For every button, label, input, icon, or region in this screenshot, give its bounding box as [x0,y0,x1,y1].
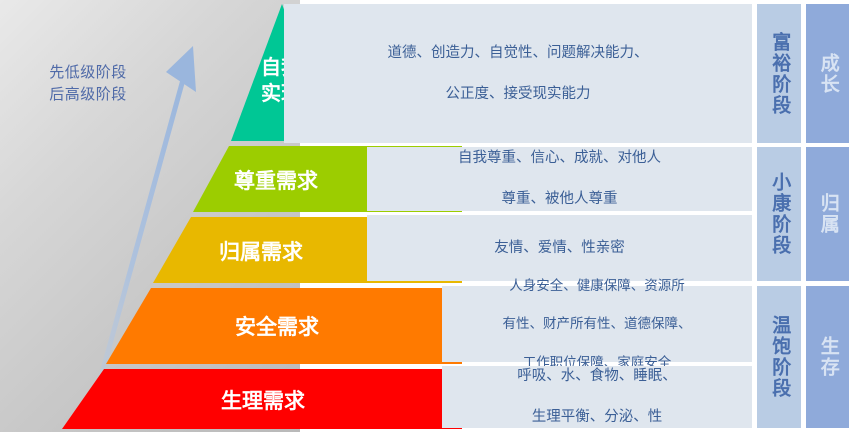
goal-column-growth-label: 成长 [817,53,838,95]
description-esteem: 自我尊重、信心、成就、对他人 尊重、被他人尊重 [367,147,752,211]
stage-column-moderate-label: 小康阶段 [769,172,790,256]
pyramid-label-safety: 安全需求 [235,315,319,339]
description-safety-line2: 有性、财产所有性、道德保障、 [448,314,746,333]
description-self-actualization-line2: 公正度、接受现实能力 [290,84,746,105]
description-safety-line1: 人身安全、健康保障、资源所 [448,276,746,295]
description-esteem-line2: 尊重、被他人尊重 [373,189,746,210]
description-physiological-line2: 生理平衡、分泌、性 [448,407,746,428]
pyramid-label-belonging: 归属需求 [219,241,303,264]
stage-column-affluent-label: 富裕阶段 [769,32,790,116]
description-esteem-line1: 自我尊重、信心、成就、对他人 [373,148,746,169]
goal-column-belonging[interactable]: 归属 [806,147,849,281]
goal-column-survival-label: 生存 [817,336,838,378]
goal-column-belonging-label: 归属 [817,193,838,235]
stage-column-moderate[interactable]: 小康阶段 [757,147,801,281]
stage-column-affluent[interactable]: 富裕阶段 [757,4,801,143]
stage-column-subsistence-label: 温饱阶段 [769,315,790,399]
pyramid-label-physiological: 生理需求 [221,389,305,413]
description-belonging: 友情、爱情、性亲密 [367,215,752,281]
goal-column-growth[interactable]: 成长 [806,4,849,143]
description-self-actualization: 道德、创造力、自觉性、问题解决能力、 公正度、接受现实能力 [284,4,752,143]
maslow-hierarchy-diagram: 先低级阶段 后高级阶段 自我 实现 尊重需求 归属需求 安全需求 生理需求 道德… [0,0,849,432]
goal-column-survival[interactable]: 生存 [806,286,849,428]
description-self-actualization-line1: 道德、创造力、自觉性、问题解决能力、 [290,43,746,64]
description-belonging-line1: 友情、爱情、性亲密 [373,238,746,259]
pyramid-label-esteem: 尊重需求 [234,169,318,193]
description-physiological-line1: 呼吸、水、食物、睡眠、 [448,366,746,387]
description-safety: 人身安全、健康保障、资源所 有性、财产所有性、道德保障、 工作职位保障、家庭安全 [442,286,752,362]
description-physiological: 呼吸、水、食物、睡眠、 生理平衡、分泌、性 [442,366,752,428]
stage-column-subsistence[interactable]: 温饱阶段 [757,286,801,428]
